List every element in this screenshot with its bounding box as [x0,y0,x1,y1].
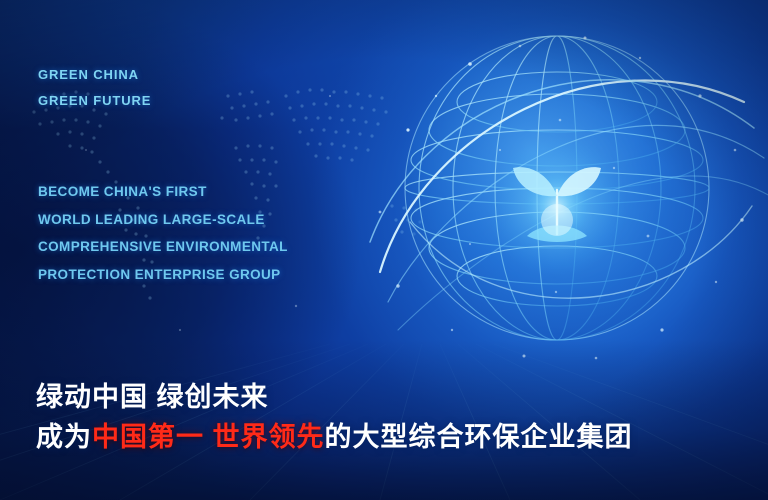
chinese-headline-line-2: 成为中国第一 世界领先的大型综合环保企业集团 [36,422,633,454]
english-body-line-4: PROTECTION ENTERPRISE GROUP [38,268,288,282]
chinese-headline: 绿动中国 绿创未来 成为中国第一 世界领先的大型综合环保企业集团 [36,382,633,454]
english-body-line-3: COMPREHENSIVE ENVIRONMENTAL [38,240,288,254]
english-slogan-line-2: GREEN FUTURE [38,94,151,107]
banner-stage: GREEN CHINA GREEN FUTURE BECOME CHINA'S … [0,0,768,500]
english-body-line-2: WORLD LEADING LARGE-SCALE [38,213,288,227]
english-body-line-1: BECOME CHINA'S FIRST [38,185,288,199]
chinese-headline-accent: 中国第一 世界领先 [92,422,325,452]
chinese-headline-line-1: 绿动中国 绿创未来 [36,382,633,414]
english-slogan-line-1: GREEN CHINA [38,68,151,81]
english-body-copy: BECOME CHINA'S FIRST WORLD LEADING LARGE… [38,185,288,295]
chinese-headline-prefix: 成为 [36,422,92,452]
chinese-headline-suffix: 的大型综合环保企业集团 [325,422,633,452]
english-slogan-top: GREEN CHINA GREEN FUTURE [38,68,151,120]
